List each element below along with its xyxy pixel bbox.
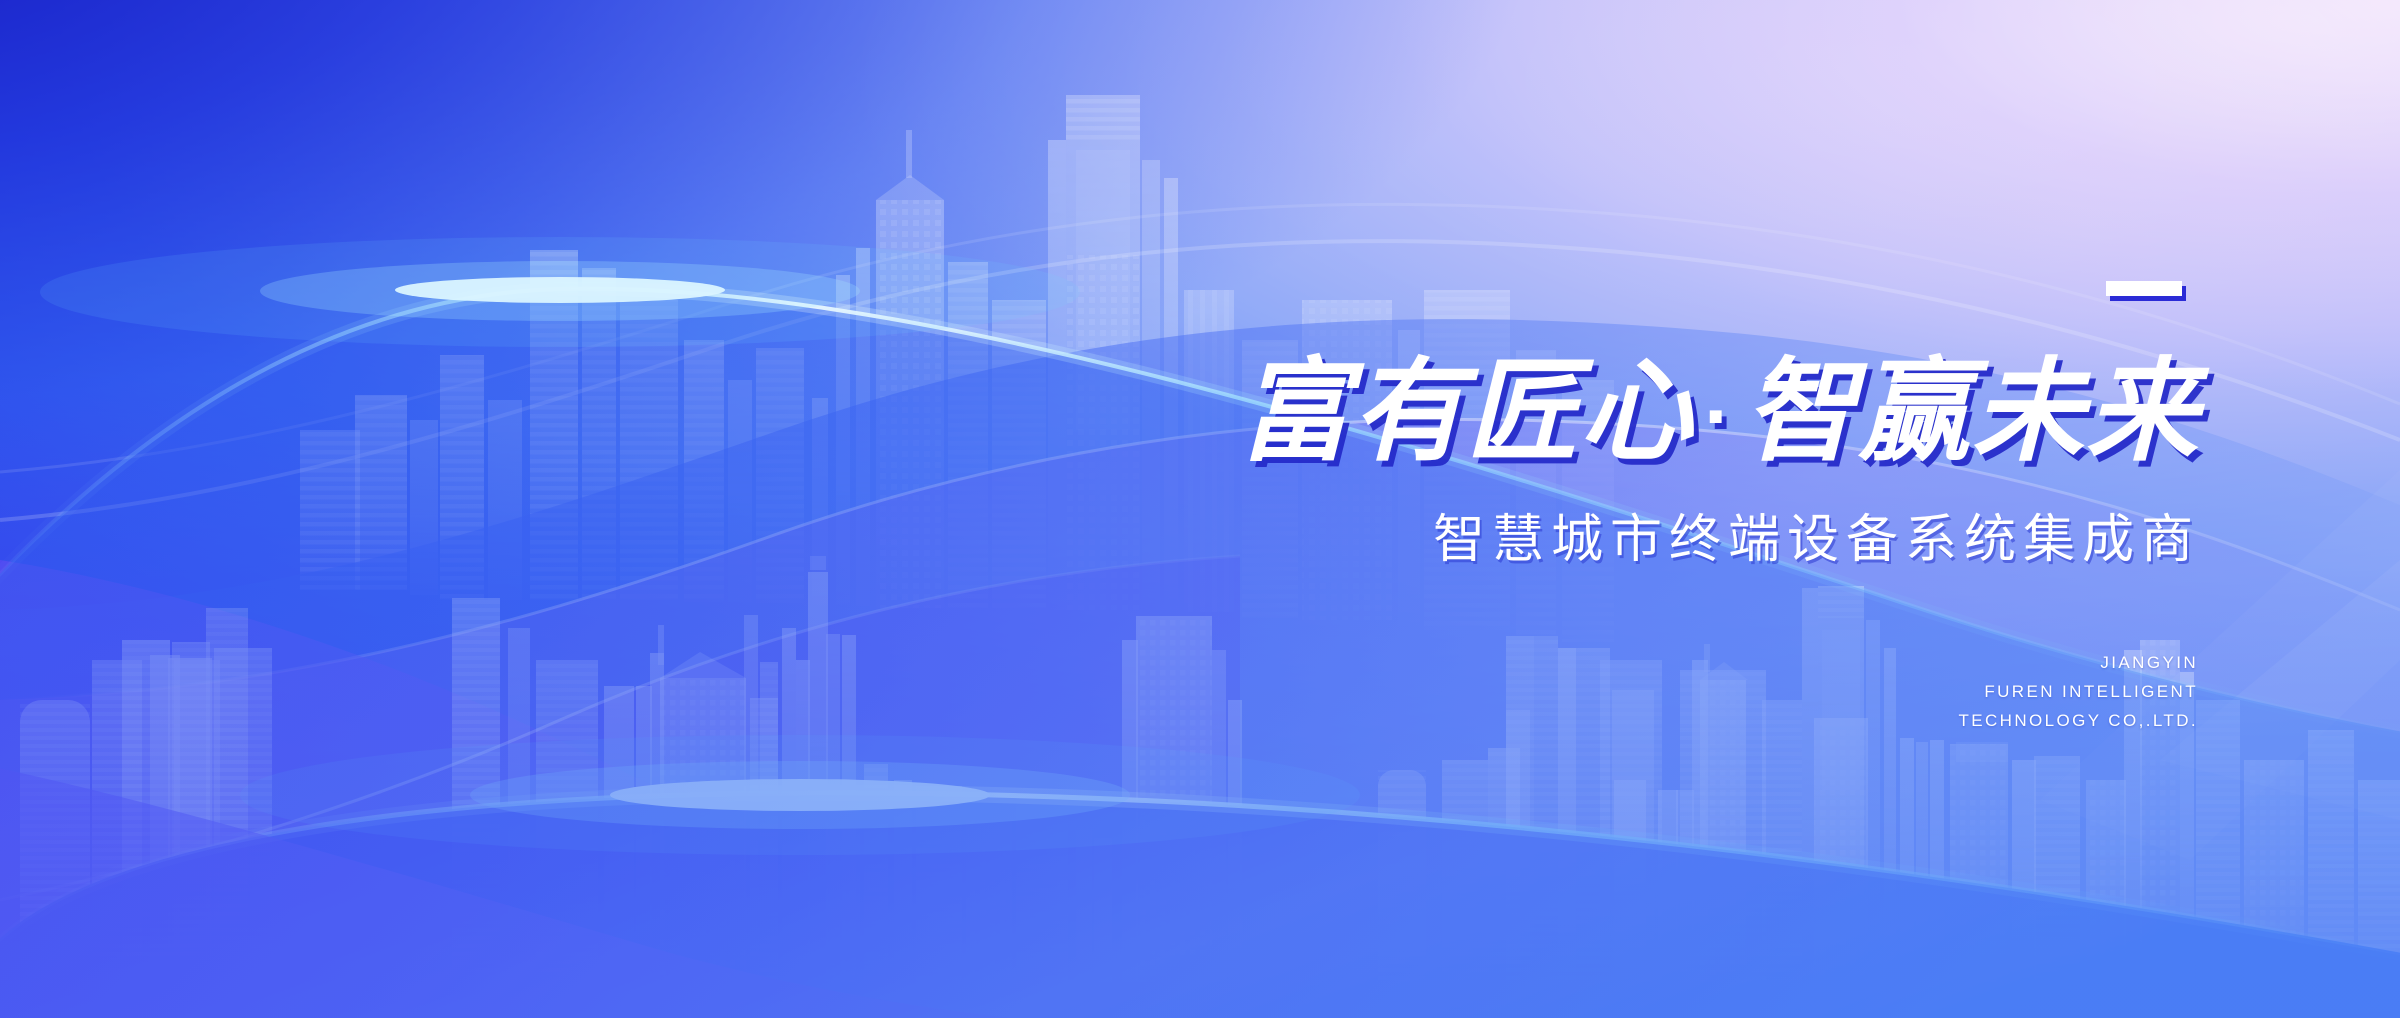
banner-canvas: 富有匠心·智赢未来 智慧城市终端设备系统集成商 JIANGYIN FUREN I…: [0, 0, 2400, 1018]
banner-title-separator: ·: [1694, 369, 1744, 463]
company-line-suffix: TECHNOLOGY CO,.LTD.: [1740, 706, 2198, 735]
company-line-city: JIANGYIN: [1740, 648, 2198, 677]
company-line-name: FUREN INTELLIGENT: [1740, 677, 2198, 706]
company-name-block: JIANGYIN FUREN INTELLIGENT TECHNOLOGY CO…: [1740, 648, 2198, 736]
banner-subtitle: 智慧城市终端设备系统集成商: [1040, 514, 2200, 566]
banner-title-right: 智赢未来: [1744, 349, 2200, 474]
dash-accent-icon: [2106, 281, 2182, 296]
banner-title: 富有匠心·智赢未来: [1040, 356, 2200, 468]
banner-content: 富有匠心·智赢未来 智慧城市终端设备系统集成商 JIANGYIN FUREN I…: [0, 0, 2400, 1018]
banner-title-left: 富有匠心: [1238, 349, 1694, 474]
